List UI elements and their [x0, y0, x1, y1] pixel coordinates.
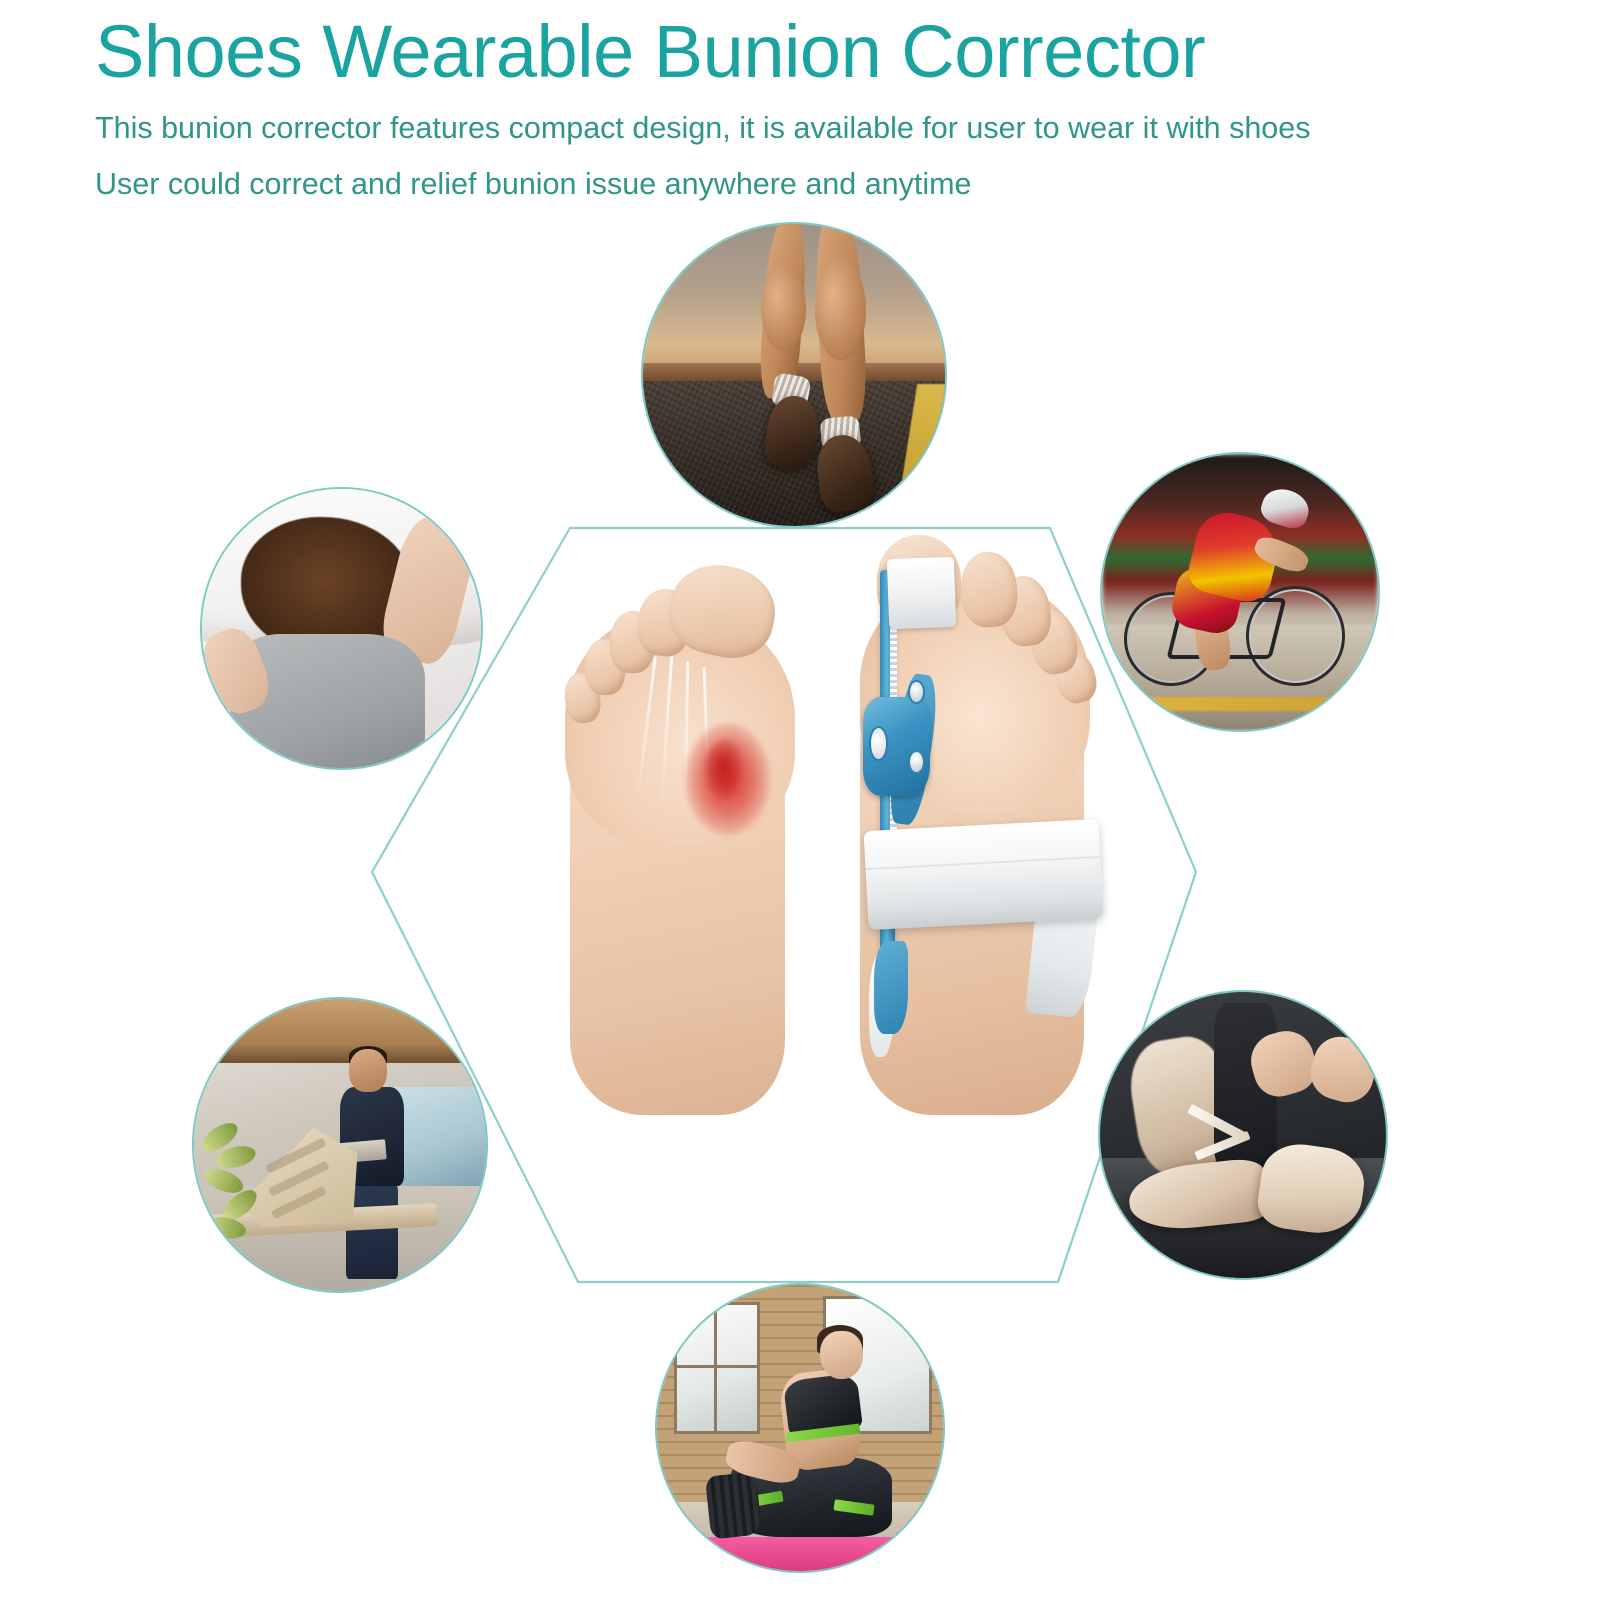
scene-photo-stretching: woman in black sportswear stretching on … — [655, 1283, 945, 1573]
infographic-stage: Shoes Wearable Bunion Corrector This bun… — [0, 0, 1620, 1620]
running-scene-art — [643, 224, 945, 526]
bunion-foot-illustration: bare foot showing inflamed bunion joint — [555, 555, 805, 1115]
product-imagery: bare foot showing inflamed bunion joint … — [545, 525, 1105, 1115]
brace-adjust-knob — [869, 726, 889, 761]
braced-foot-illustration: foot wearing the hinged bunion corrector… — [821, 535, 1101, 1115]
subtitle-line-1: This bunion corrector features compact d… — [95, 113, 1515, 144]
subtitle-line-2: User could correct and relief bunion iss… — [95, 169, 1515, 200]
scene-photo-running: close-up of runner's legs and shoes on a… — [641, 222, 947, 528]
brace-main-strap — [863, 819, 1103, 930]
page-title: Shoes Wearable Bunion Corrector — [95, 14, 1515, 91]
scene-photo-cycling: cyclist in red and yellow kit riding a r… — [1100, 452, 1380, 732]
scene-photo-sleeping: woman lying face down asleep on a white … — [200, 487, 483, 770]
ballet-scene-art — [1100, 992, 1386, 1278]
standing-desk-scene-art — [194, 999, 486, 1291]
scene-photo-ballet: dancer tying the ribbons of white satin … — [1098, 990, 1388, 1280]
stretching-scene-art — [657, 1285, 943, 1571]
brace-toe-strap — [887, 557, 957, 629]
header: Shoes Wearable Bunion Corrector This bun… — [95, 14, 1515, 200]
sleeping-scene-art — [202, 489, 481, 768]
scene-photo-standing-desk: man in navy polo working on a laptop at … — [192, 997, 488, 1293]
cycling-scene-art — [1102, 454, 1378, 730]
